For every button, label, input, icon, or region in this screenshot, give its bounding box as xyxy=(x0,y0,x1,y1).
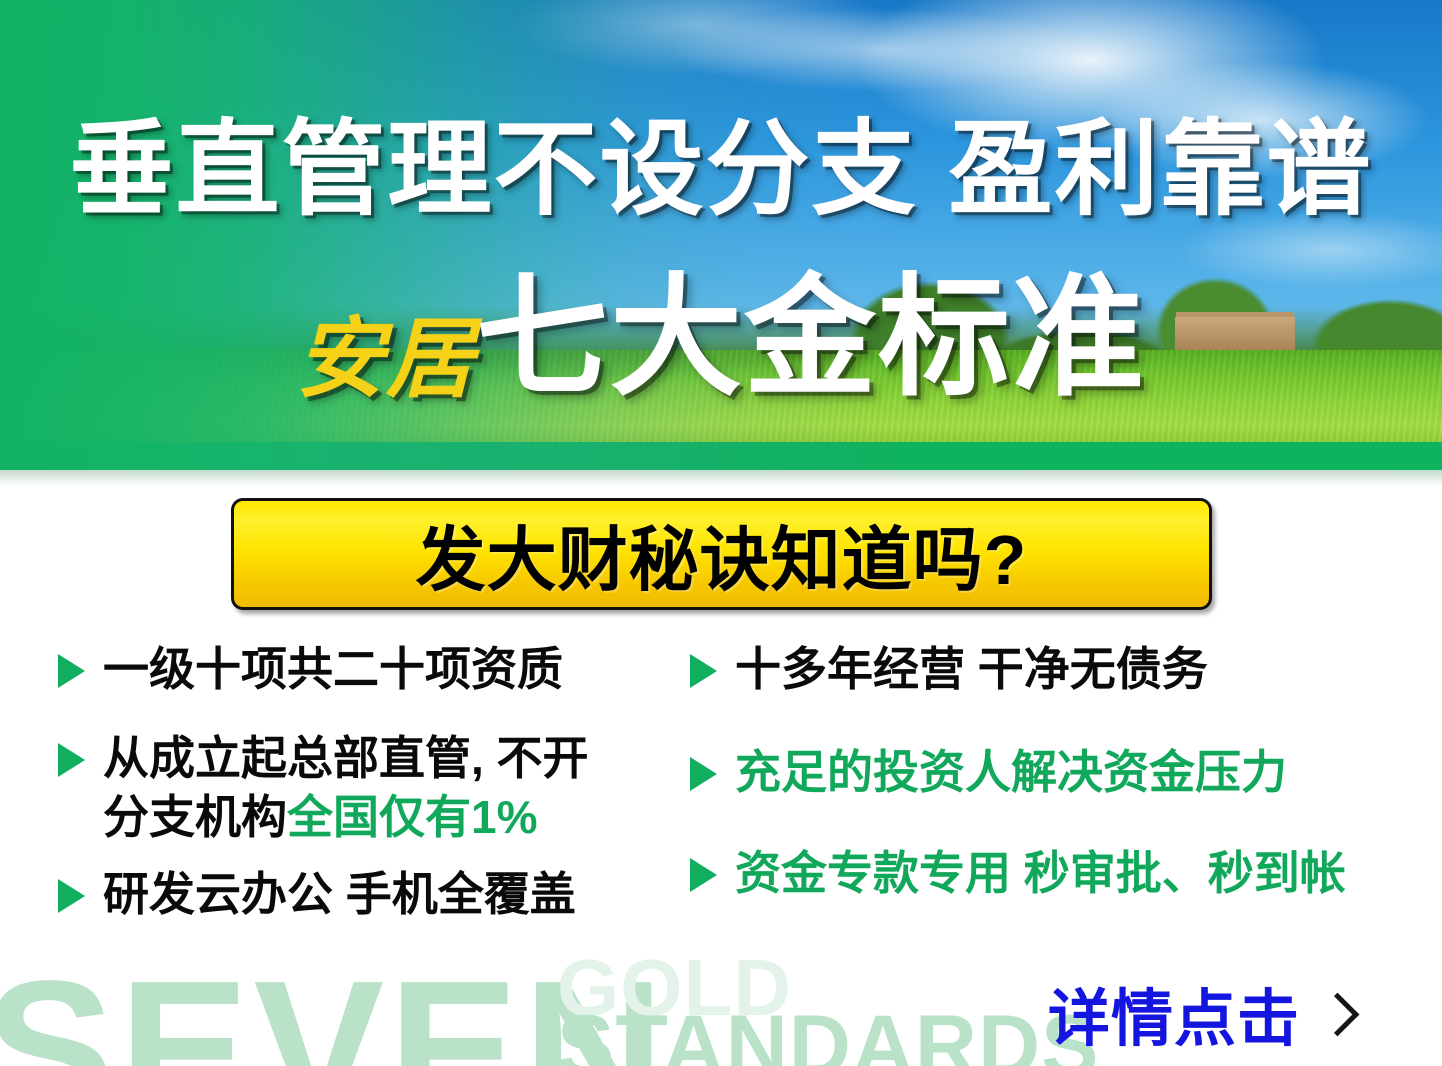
hero-banner: 垂直管理不设分支 盈利靠谱 安居七大金标准 xyxy=(0,0,1442,470)
watermark-standards: STANDARDS xyxy=(557,1003,1100,1066)
triangle-bullet-icon xyxy=(690,757,717,791)
highlight-banner[interactable]: 发大财秘诀知道吗? xyxy=(231,498,1212,610)
feature-text: 研发云办公 手机全覆盖 xyxy=(103,865,576,924)
hero-subtitle-main: 七大金标准 xyxy=(476,264,1146,411)
list-item: 资金专款专用 秒审批、秒到帐 xyxy=(690,844,1442,903)
feature-text-line2-highlight: 全国仅有1% xyxy=(287,791,537,843)
features-left-column: 一级十项共二十项资质 从成立起总部直管, 不开 分支机构全国仅有1% 研发云办公… xyxy=(58,640,698,946)
feature-text: 充足的投资人解决资金压力 xyxy=(735,743,1287,802)
list-item: 十多年经营 干净无债务 xyxy=(690,640,1442,699)
triangle-bullet-icon xyxy=(58,879,85,913)
feature-text: 从成立起总部直管, 不开 分支机构全国仅有1% xyxy=(103,729,589,847)
features-section: 一级十项共二十项资质 从成立起总部直管, 不开 分支机构全国仅有1% 研发云办公… xyxy=(0,640,1442,980)
hero-drop-shadow xyxy=(0,470,1442,486)
feature-text-line1: 从成立起总部直管, 不开 xyxy=(103,732,589,784)
details-cta-button[interactable]: 详情点击 xyxy=(1048,968,1353,1058)
triangle-bullet-icon xyxy=(58,654,85,688)
list-item: 一级十项共二十项资质 xyxy=(58,640,698,699)
details-cta-label: 详情点击 xyxy=(1048,968,1300,1058)
hero-brand-text: 安居 xyxy=(296,306,476,410)
feature-text-line2-plain: 分支机构 xyxy=(103,791,287,843)
list-item: 充足的投资人解决资金压力 xyxy=(690,743,1442,802)
triangle-bullet-icon xyxy=(58,743,85,777)
feature-text: 十多年经营 干净无债务 xyxy=(735,640,1208,699)
triangle-bullet-icon xyxy=(690,858,717,892)
hero-subtitle: 安居七大金标准 xyxy=(0,272,1442,404)
feature-text: 资金专款专用 秒审批、秒到帐 xyxy=(735,844,1346,903)
features-right-column: 十多年经营 干净无债务 充足的投资人解决资金压力 资金专款专用 秒审批、秒到帐 xyxy=(690,640,1442,925)
triangle-bullet-icon xyxy=(690,654,717,688)
highlight-banner-text: 发大财秘诀知道吗? xyxy=(416,504,1028,605)
list-item: 研发云办公 手机全覆盖 xyxy=(58,865,698,924)
feature-text: 一级十项共二十项资质 xyxy=(103,640,563,699)
chevron-right-icon xyxy=(1316,992,1360,1036)
list-item: 从成立起总部直管, 不开 分支机构全国仅有1% xyxy=(58,729,698,847)
hero-headline: 垂直管理不设分支 盈利靠谱 xyxy=(0,118,1442,222)
